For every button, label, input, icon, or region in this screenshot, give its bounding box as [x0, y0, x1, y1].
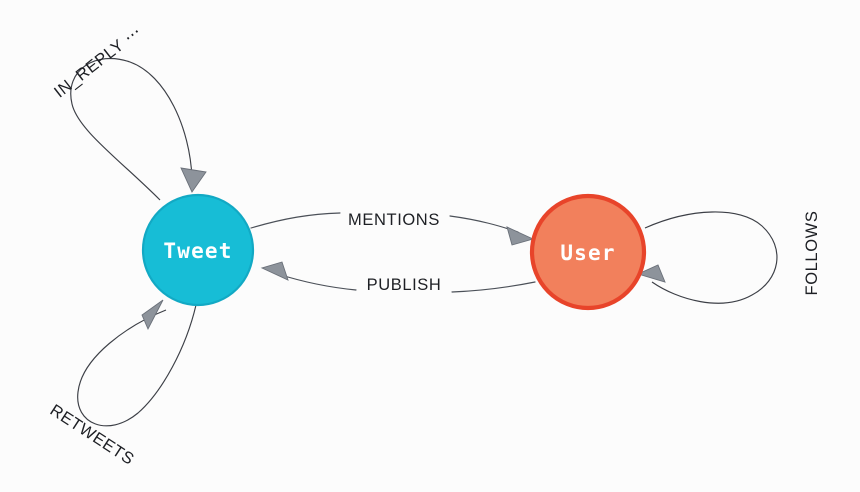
edge-publish-arrowhead — [262, 262, 288, 280]
edge-label-follows: FOLLOWS — [803, 211, 821, 296]
edge-in-reply-arrowhead — [181, 168, 206, 192]
edge-retweets-path — [78, 305, 196, 426]
edge-label-publish: PUBLISH — [367, 276, 442, 294]
edge-in-reply[interactable] — [71, 58, 206, 200]
node-user[interactable]: User — [532, 196, 644, 308]
edge-follows[interactable] — [638, 212, 777, 303]
graph-canvas: Tweet User IN_REPLY ⋯ RETWEETS MENTIONS … — [0, 0, 860, 492]
node-user-label: User — [560, 241, 615, 265]
edge-publish-path-right — [452, 282, 535, 292]
node-tweet[interactable]: Tweet — [143, 195, 253, 305]
edge-publish-path-left — [278, 274, 356, 290]
edge-retweets[interactable] — [78, 300, 196, 426]
graph-diagram: Tweet User IN_REPLY ⋯ RETWEETS MENTIONS … — [0, 0, 860, 492]
edge-label-mentions: MENTIONS — [348, 211, 440, 229]
edge-follows-path — [645, 212, 777, 303]
edge-label-retweets: RETWEETS — [47, 401, 138, 469]
edge-mentions-path-left — [251, 213, 340, 228]
node-tweet-label: Tweet — [163, 239, 232, 263]
edge-mentions-arrowhead — [507, 227, 533, 245]
edge-retweets-arrowhead — [142, 300, 163, 329]
